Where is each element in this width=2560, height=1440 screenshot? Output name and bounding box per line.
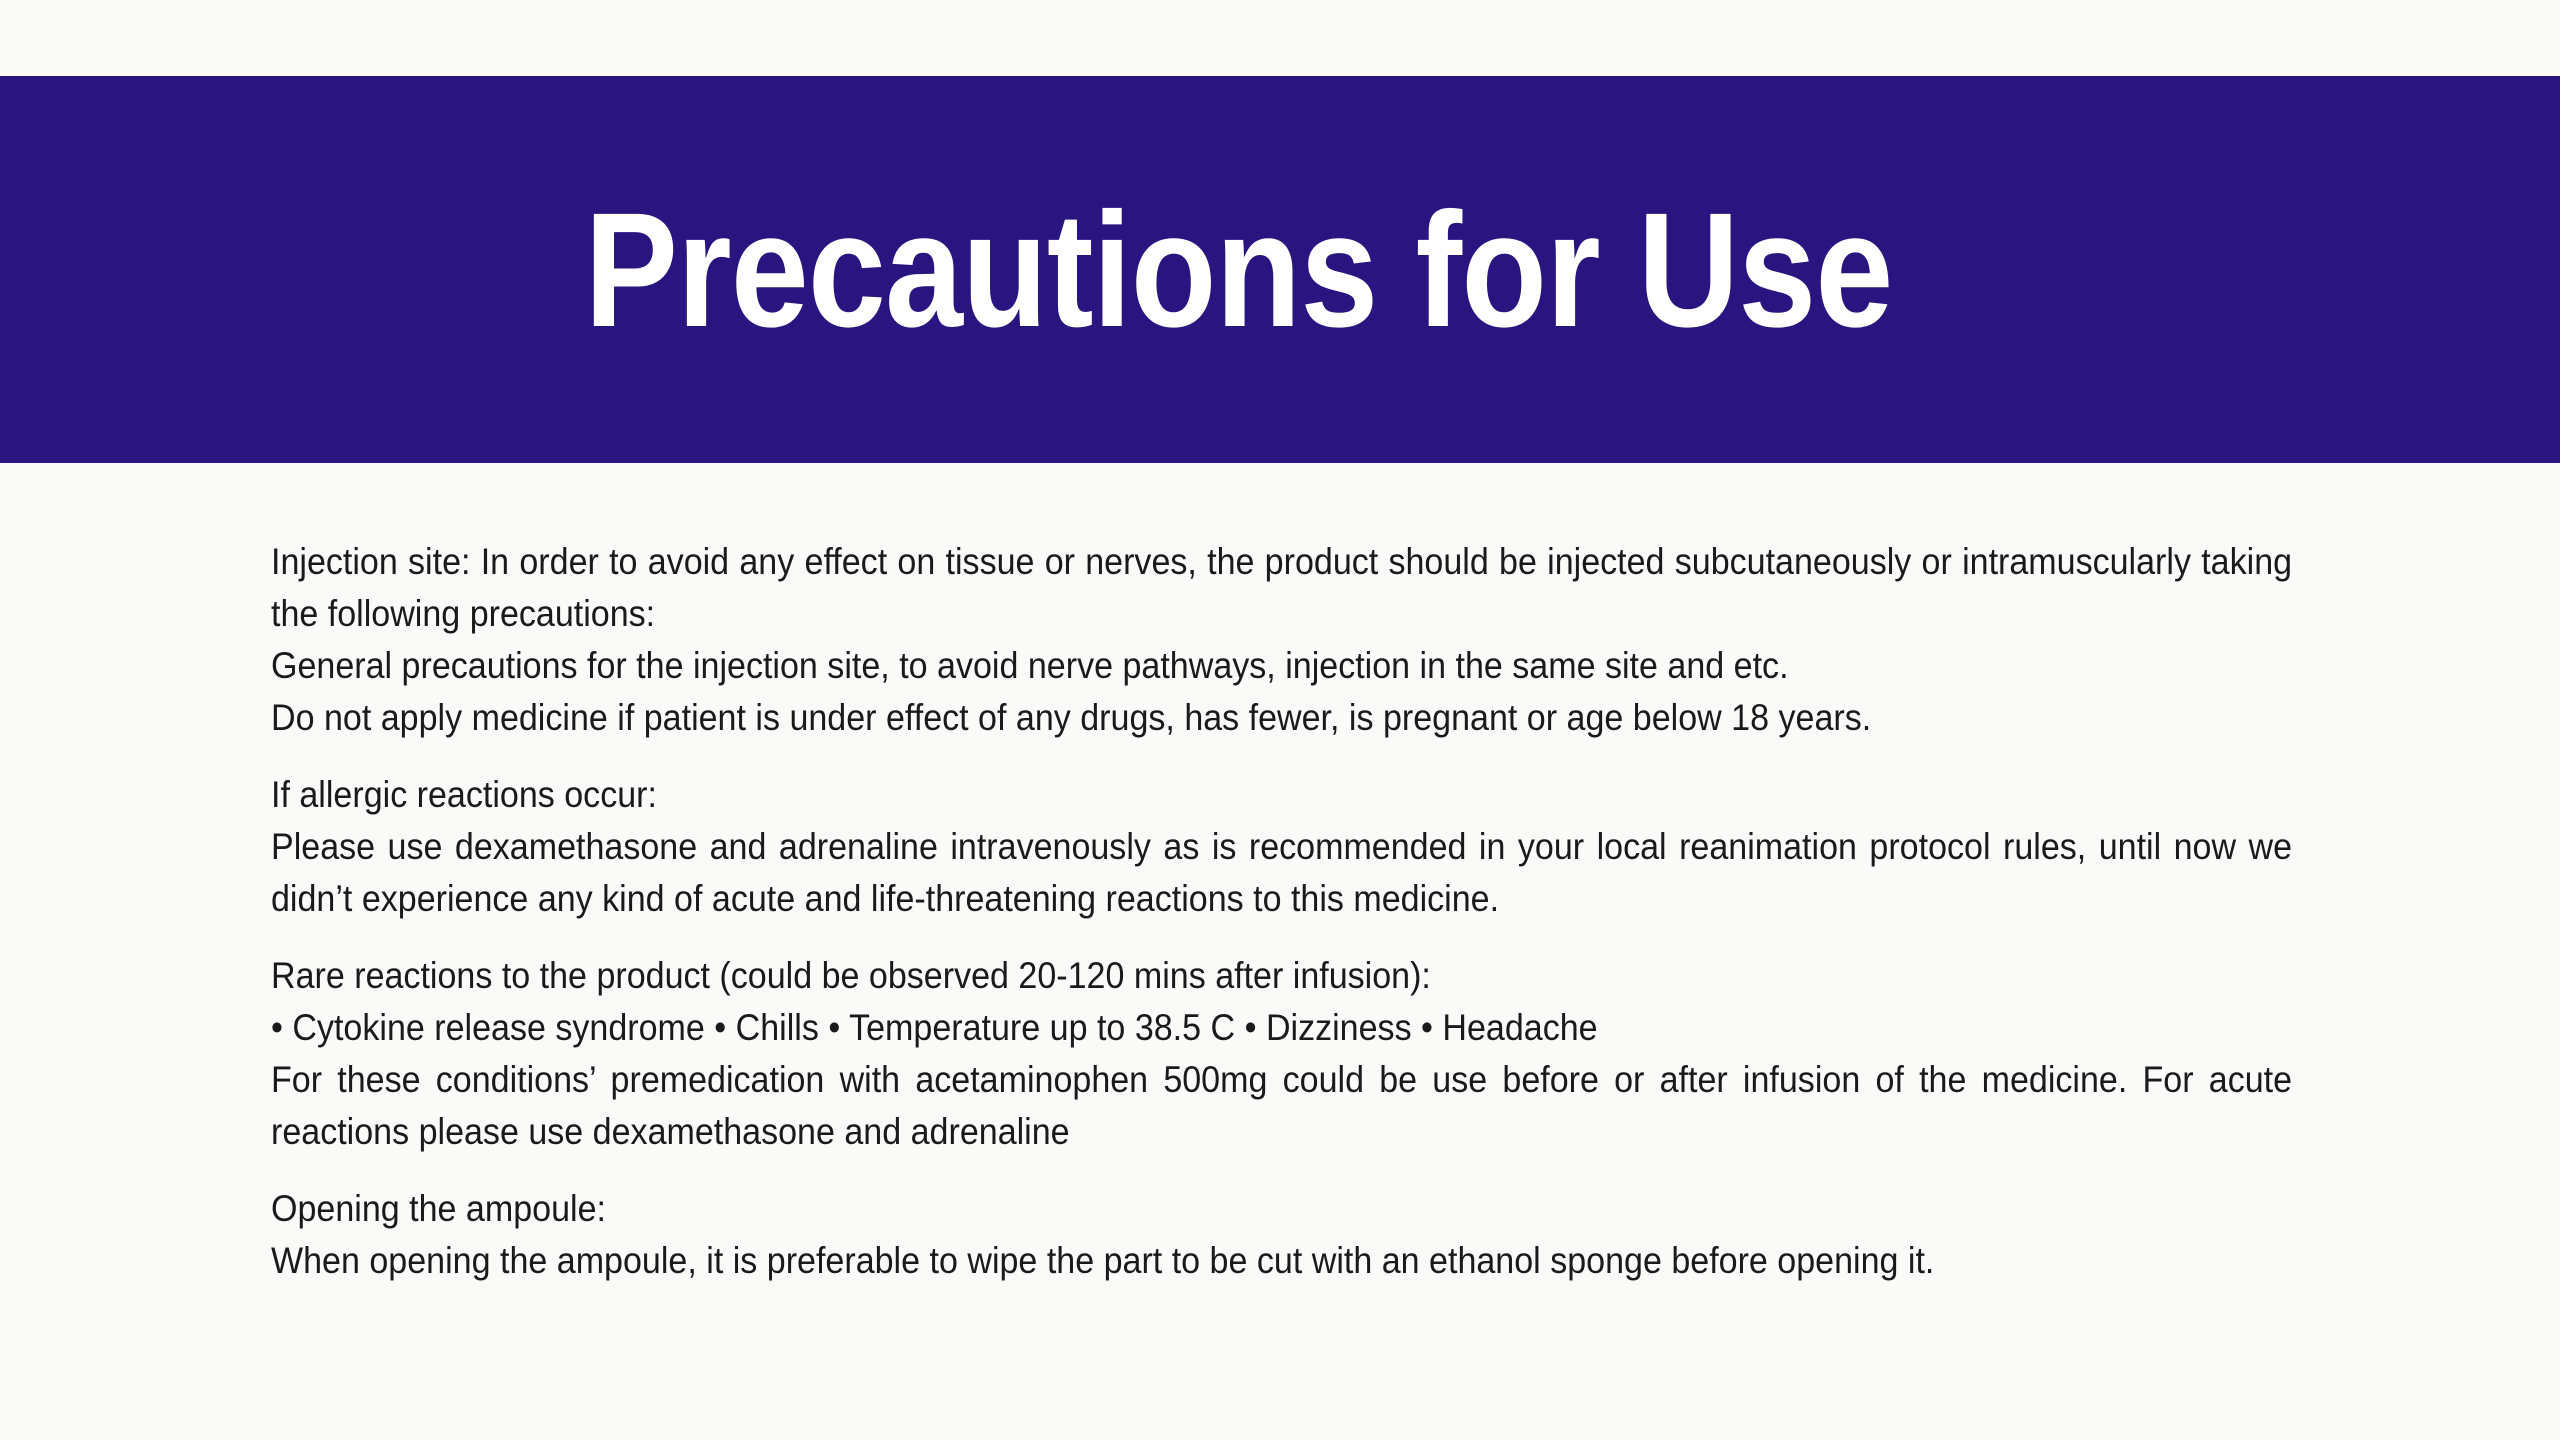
paragraph-opening-ampoule: Opening the ampoule: When opening the am…: [271, 1183, 2292, 1287]
paragraph-line: When opening the ampoule, it is preferab…: [271, 1235, 2292, 1287]
paragraph-line: For these conditions’ premedication with…: [271, 1054, 2292, 1158]
paragraph-injection-site: Injection site: In order to avoid any ef…: [271, 536, 2292, 744]
paragraph-line: General precautions for the injection si…: [271, 640, 2292, 692]
slide-canvas: Precautions for Use Injection site: In o…: [0, 0, 2560, 1440]
paragraph-line: If allergic reactions occur:: [271, 769, 2292, 821]
paragraph-line: Rare reactions to the product (could be …: [271, 950, 2292, 1002]
paragraph-allergic-reactions: If allergic reactions occur: Please use …: [271, 769, 2292, 925]
bullet-list-line: • Cytokine release syndrome • Chills • T…: [271, 1002, 2292, 1054]
paragraph-line: Injection site: In order to avoid any ef…: [271, 536, 2292, 640]
body-content: Injection site: In order to avoid any ef…: [271, 536, 2292, 1287]
paragraph-line: Do not apply medicine if patient is unde…: [271, 692, 2292, 744]
paragraph-line: Opening the ampoule:: [271, 1183, 2292, 1235]
paragraph-rare-reactions: Rare reactions to the product (could be …: [271, 950, 2292, 1158]
title-banner: Precautions for Use: [0, 76, 2560, 463]
paragraph-line: Please use dexamethasone and adrenaline …: [271, 821, 2292, 925]
page-title: Precautions for Use: [584, 184, 1892, 355]
